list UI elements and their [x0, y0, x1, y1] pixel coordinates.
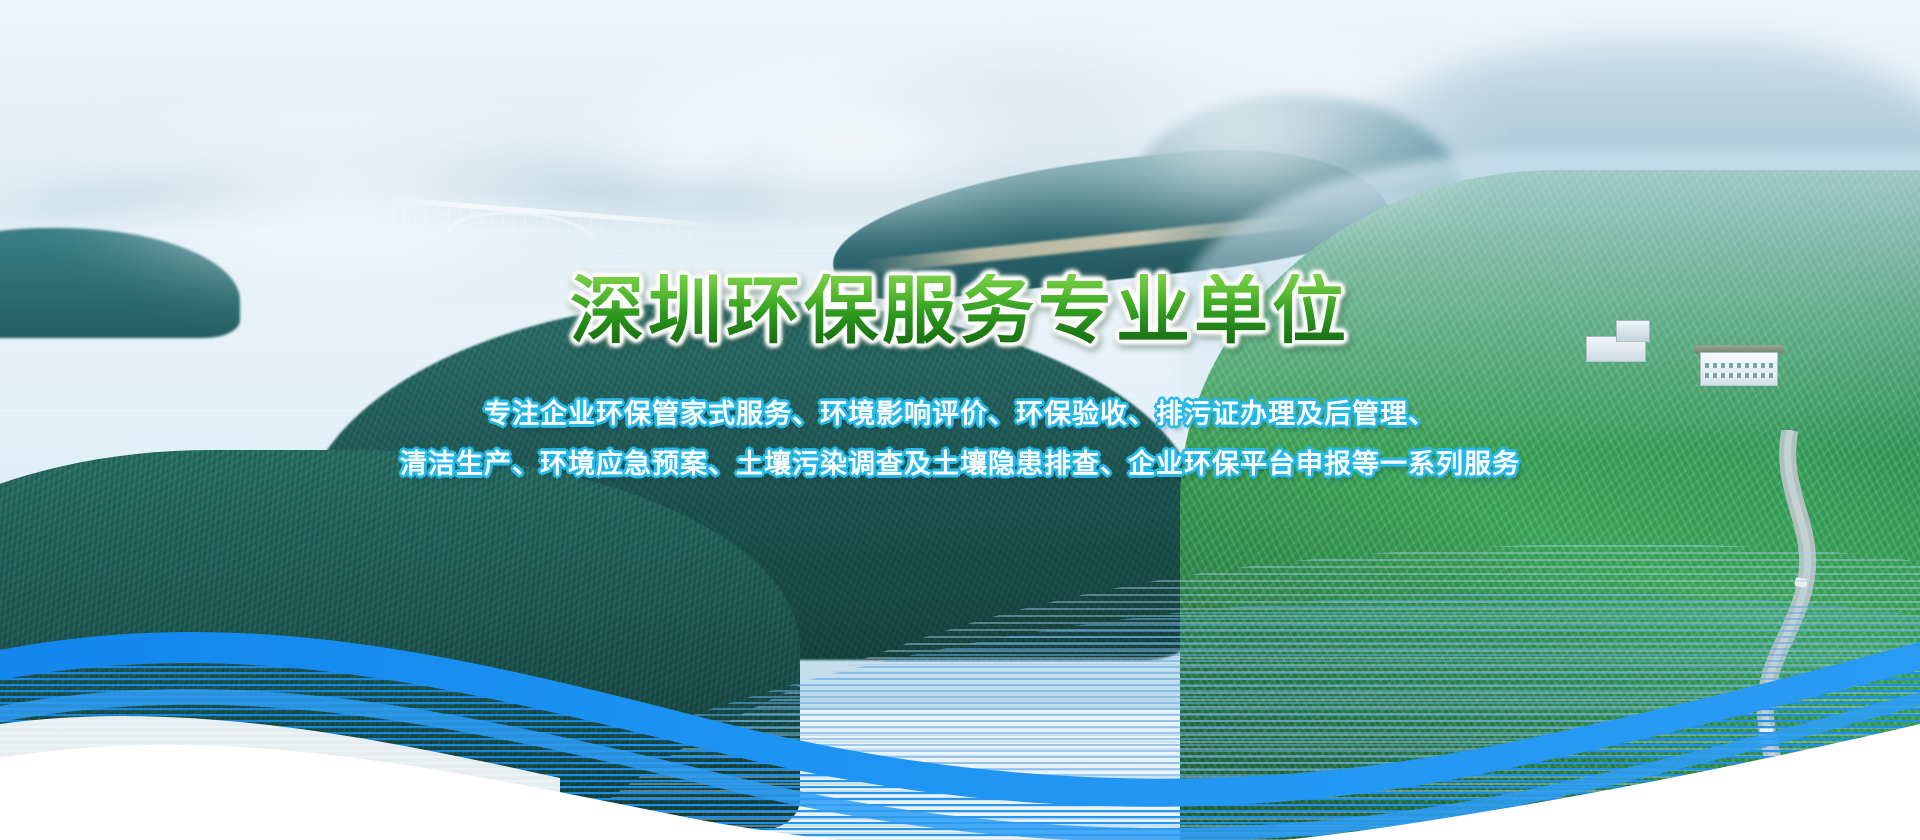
- banner-subtitle: 专注企业环保管家式服务、环境影响评价、环保验收、排污证办理及后管理、 清洁生产、…: [400, 390, 1520, 490]
- wave-decoration: [0, 510, 1920, 840]
- subtitle-line-2: 清洁生产、环境应急预案、土壤污染调查及土壤隐患排查、企业环保平台申报等一系列服务: [400, 440, 1520, 490]
- subtitle-line-1: 专注企业环保管家式服务、环境影响评价、环保验收、排污证办理及后管理、: [400, 390, 1520, 440]
- hero-banner: 深圳环保服务专业单位 专注企业环保管家式服务、环境影响评价、环保验收、排污证办理…: [0, 0, 1920, 840]
- page-title: 深圳环保服务专业单位: [570, 274, 1350, 348]
